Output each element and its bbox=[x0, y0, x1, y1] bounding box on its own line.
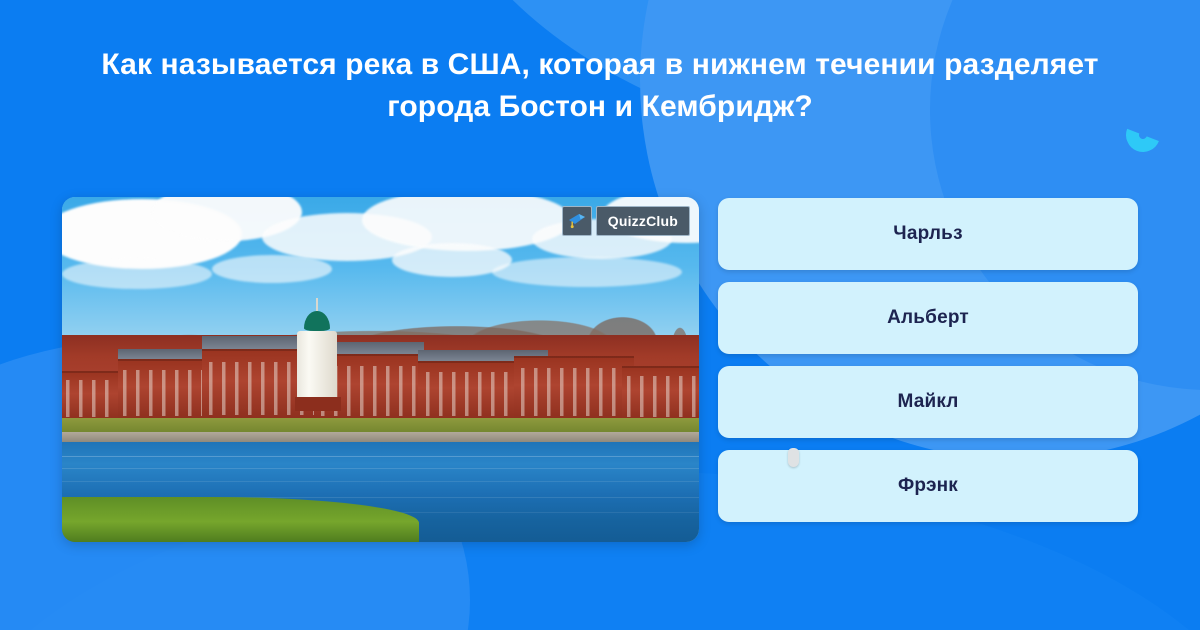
scroll-nub[interactable] bbox=[788, 448, 799, 467]
tower-arches bbox=[304, 358, 330, 382]
image-scene bbox=[62, 197, 699, 542]
building bbox=[622, 366, 699, 421]
building bbox=[118, 359, 208, 421]
shrub bbox=[212, 482, 258, 504]
quiz-card: Как называется река в США, которая в ниж… bbox=[0, 0, 1200, 630]
cloud bbox=[492, 257, 682, 287]
question-title: Как называется река в США, которая в ниж… bbox=[0, 44, 1200, 128]
brick-buildings bbox=[62, 335, 699, 421]
tower-base bbox=[295, 397, 341, 411]
answer-list: Чарльз Альберт Майкл Фрэнк bbox=[718, 198, 1138, 522]
shrub bbox=[302, 482, 348, 504]
roof bbox=[118, 349, 208, 359]
answer-option-4[interactable]: Фрэнк bbox=[718, 450, 1138, 522]
cloud bbox=[212, 255, 332, 283]
cloud bbox=[62, 259, 212, 289]
tower-spire bbox=[316, 298, 318, 311]
brand-name: QuizzClub bbox=[596, 206, 690, 236]
shrub bbox=[122, 482, 168, 504]
answer-option-2[interactable]: Альберт bbox=[718, 282, 1138, 354]
building bbox=[514, 356, 634, 422]
tower-green-dome bbox=[304, 311, 330, 331]
graduation-cap-icon bbox=[562, 206, 592, 236]
answer-option-3[interactable]: Майкл bbox=[718, 366, 1138, 438]
answer-option-1[interactable]: Чарльз bbox=[718, 198, 1138, 270]
clock-tower bbox=[295, 298, 339, 411]
question-image: QuizzClub bbox=[62, 197, 699, 542]
brand-badge[interactable]: QuizzClub bbox=[562, 206, 690, 236]
